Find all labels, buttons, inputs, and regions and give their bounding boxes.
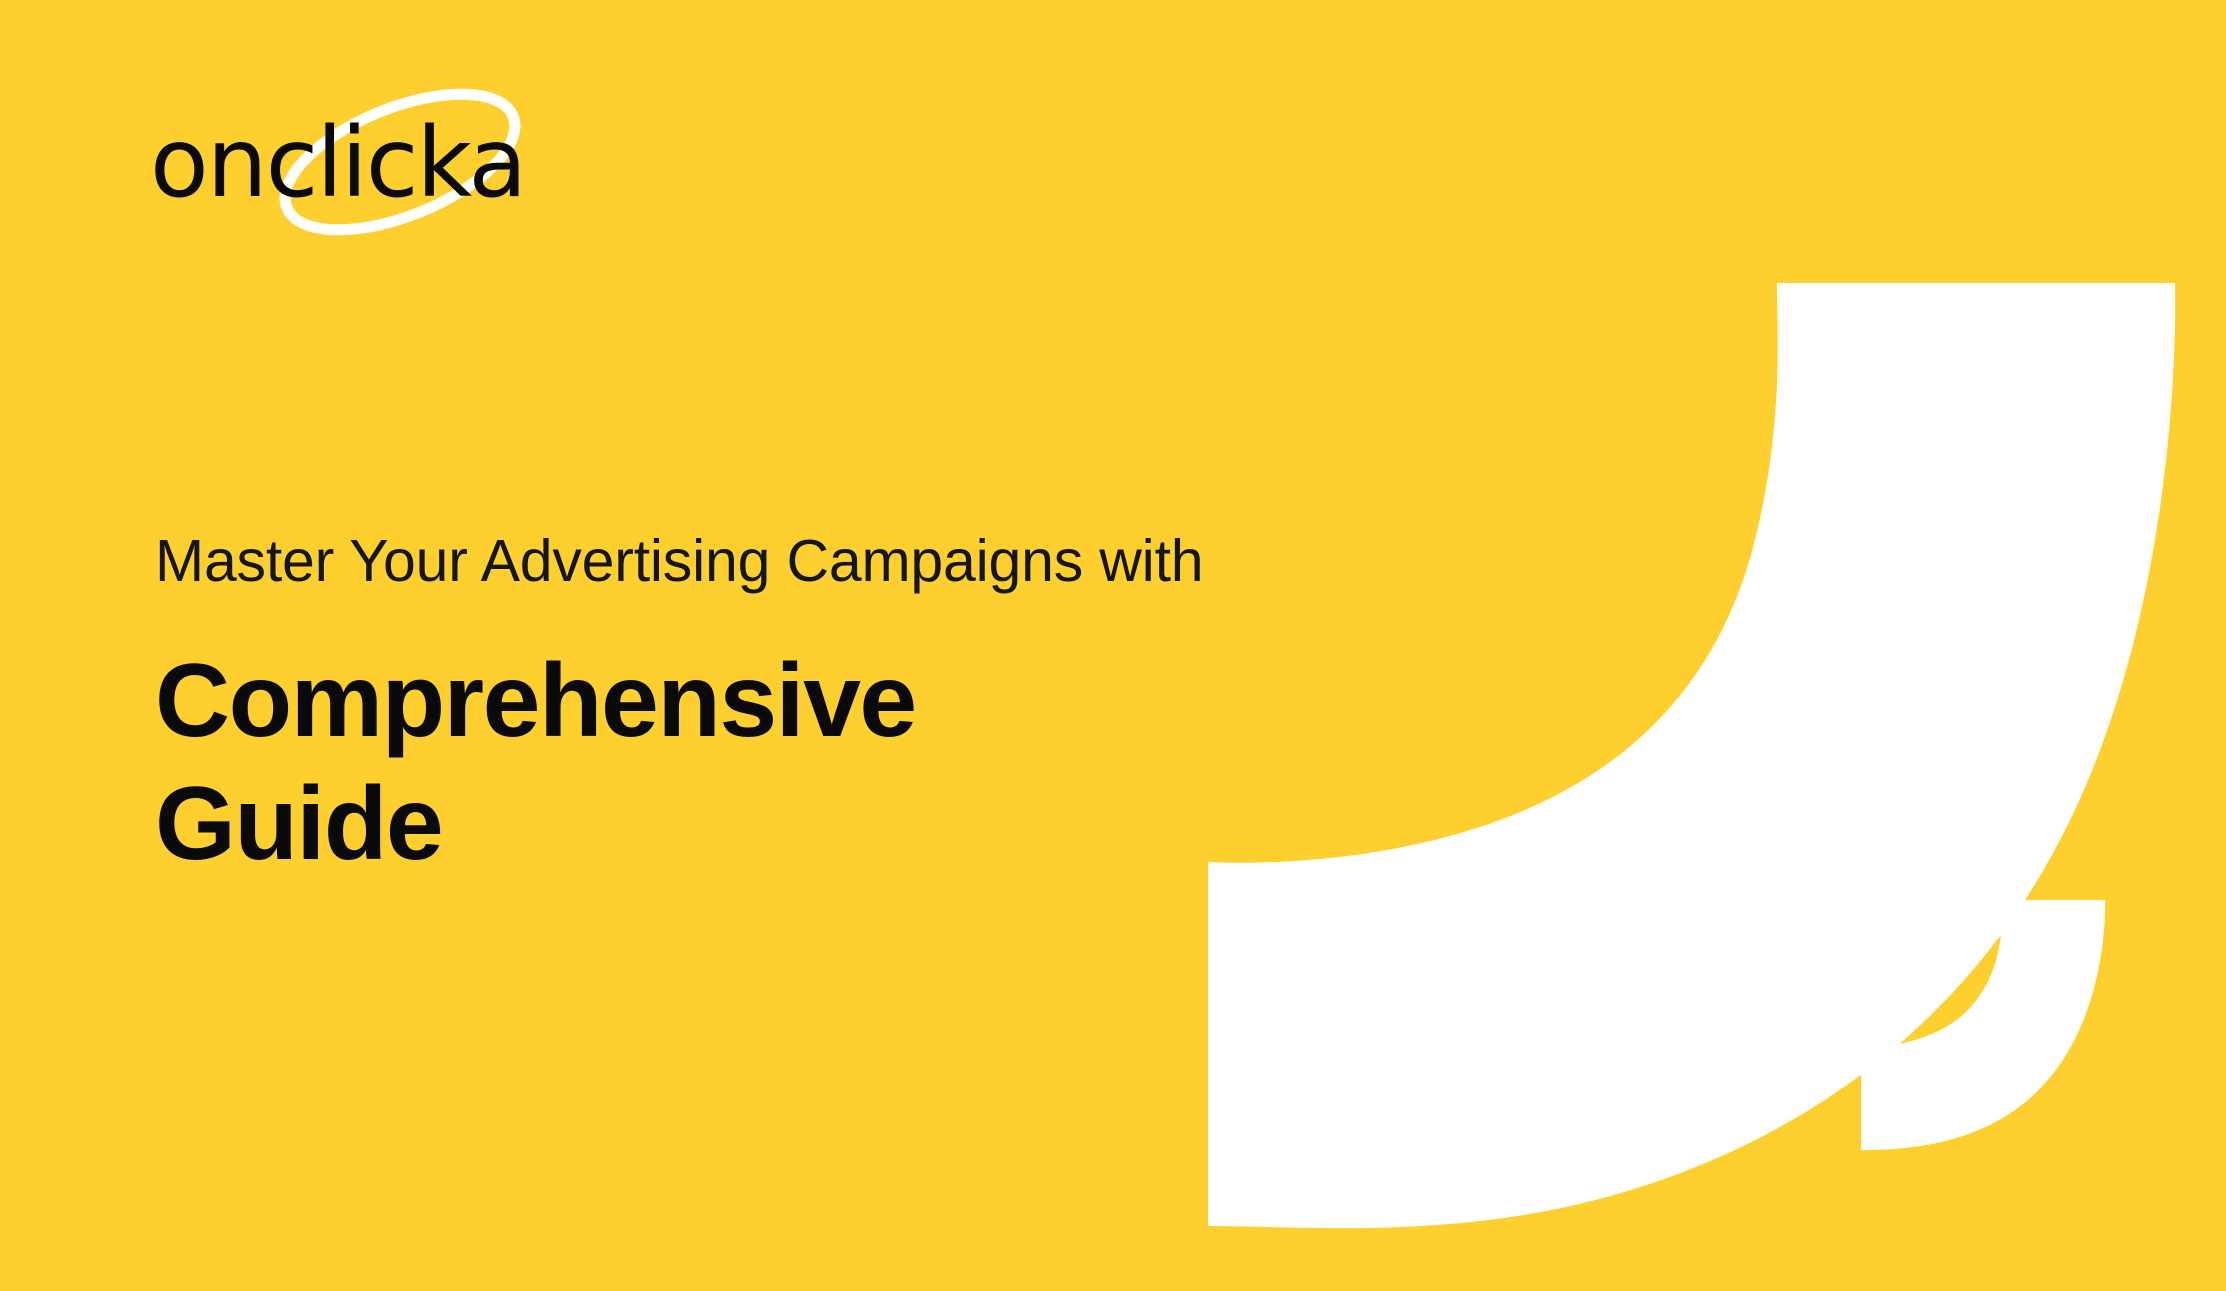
swoosh-shape bbox=[1208, 283, 2175, 1228]
logo-wordmark: onclicka bbox=[150, 107, 525, 219]
headline-line-2: Guide bbox=[155, 763, 1205, 886]
headline: Comprehensive Guide bbox=[155, 640, 1205, 885]
logo[interactable]: onclicka bbox=[150, 100, 580, 240]
headline-line-1: Comprehensive bbox=[155, 640, 1205, 763]
swoosh-accent-shape bbox=[1861, 900, 2105, 1150]
copy-block: Master Your Advertising Campaigns with C… bbox=[155, 528, 1205, 885]
promo-banner: onclicka Master Your Advertising Campaig… bbox=[0, 0, 2226, 1291]
subtitle: Master Your Advertising Campaigns with bbox=[155, 528, 1205, 596]
